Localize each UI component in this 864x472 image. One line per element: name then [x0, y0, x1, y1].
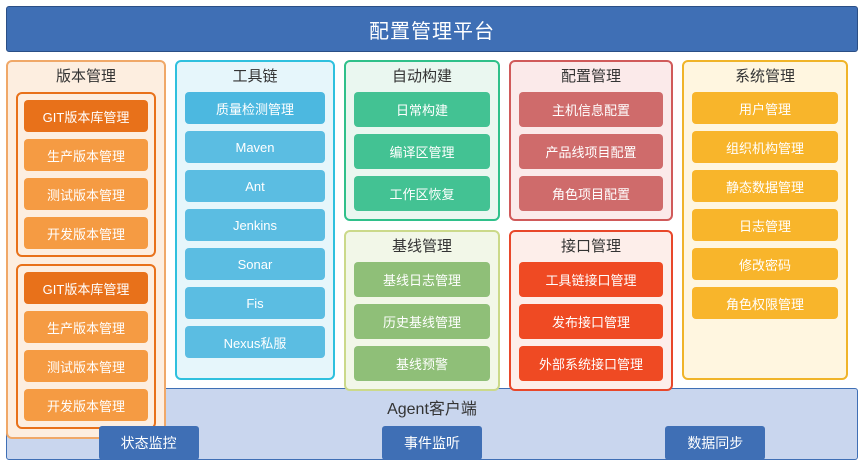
node-fis[interactable]: Fis [185, 287, 325, 319]
group-title: 版本管理 [16, 68, 156, 86]
group-system-management: 系统管理 用户管理 组织机构管理 静态数据管理 日志管理 修改密码 角色权限管理 [682, 60, 848, 380]
subgroup-list: GIT版本库管理 生产版本管理 测试版本管理 开发版本管理 GIT版本库管理 生… [16, 92, 156, 429]
group-baseline-management: 基线管理 基线日志管理 历史基线管理 基线预警 [344, 230, 500, 391]
page-title: 配置管理平台 [6, 6, 858, 52]
node-list: 用户管理 组织机构管理 静态数据管理 日志管理 修改密码 角色权限管理 [692, 92, 838, 370]
group-title: 接口管理 [519, 238, 663, 256]
node-nexus-private-repo[interactable]: Nexus私服 [185, 326, 325, 358]
node-product-line-project-config[interactable]: 产品线项目配置 [519, 134, 663, 169]
node-dev-version-management[interactable]: 开发版本管理 [24, 389, 148, 421]
agent-client-title: Agent客户端 [387, 395, 477, 419]
node-user-management[interactable]: 用户管理 [692, 92, 838, 124]
group-title: 基线管理 [354, 238, 490, 256]
node-test-version-management[interactable]: 测试版本管理 [24, 178, 148, 210]
group-config-management: 配置管理 主机信息配置 产品线项目配置 角色项目配置 [509, 60, 673, 221]
node-git-repo-management[interactable]: GIT版本库管理 [24, 272, 148, 304]
group-title: 配置管理 [519, 68, 663, 86]
node-git-repo-management[interactable]: GIT版本库管理 [24, 100, 148, 132]
node-static-data-management[interactable]: 静态数据管理 [692, 170, 838, 202]
node-host-info-config[interactable]: 主机信息配置 [519, 92, 663, 127]
node-role-project-config[interactable]: 角色项目配置 [519, 176, 663, 211]
node-external-system-interface-management[interactable]: 外部系统接口管理 [519, 346, 663, 381]
node-test-version-management[interactable]: 测试版本管理 [24, 350, 148, 382]
node-toolchain-interface-management[interactable]: 工具链接口管理 [519, 262, 663, 297]
diagram-root: 配置管理平台 版本管理 GIT版本库管理 生产版本管理 测试版本管理 开发版本管… [0, 0, 864, 472]
node-quality-inspection-management[interactable]: 质量检测管理 [185, 92, 325, 124]
subgroup-version-repo-1: GIT版本库管理 生产版本管理 测试版本管理 开发版本管理 [16, 92, 156, 257]
group-toolchain: 工具链 质量检测管理 Maven Ant Jenkins Sonar Fis N… [175, 60, 335, 380]
node-production-version-management[interactable]: 生产版本管理 [24, 311, 148, 343]
column-system-management: 系统管理 用户管理 组织机构管理 静态数据管理 日志管理 修改密码 角色权限管理 [682, 60, 848, 380]
node-dev-version-management[interactable]: 开发版本管理 [24, 217, 148, 249]
node-list: 工具链接口管理 发布接口管理 外部系统接口管理 [519, 262, 663, 381]
group-auto-build: 自动构建 日常构建 编译区管理 工作区恢复 [344, 60, 500, 221]
node-change-password[interactable]: 修改密码 [692, 248, 838, 280]
diagram-columns: 版本管理 GIT版本库管理 生产版本管理 测试版本管理 开发版本管理 GIT版本… [6, 60, 858, 380]
node-jenkins[interactable]: Jenkins [185, 209, 325, 241]
node-list: 日常构建 编译区管理 工作区恢复 [354, 92, 490, 211]
column-version-management: 版本管理 GIT版本库管理 生产版本管理 测试版本管理 开发版本管理 GIT版本… [6, 60, 166, 380]
node-event-listening[interactable]: 事件监听 [382, 426, 482, 460]
node-list: 质量检测管理 Maven Ant Jenkins Sonar Fis Nexus… [185, 92, 325, 370]
node-organization-management[interactable]: 组织机构管理 [692, 131, 838, 163]
node-ant[interactable]: Ant [185, 170, 325, 202]
column-auto-build: 自动构建 日常构建 编译区管理 工作区恢复 基线管理 基线日志管理 历史基线管理… [344, 60, 500, 380]
subgroup-version-repo-2: GIT版本库管理 生产版本管理 测试版本管理 开发版本管理 [16, 264, 156, 429]
node-release-interface-management[interactable]: 发布接口管理 [519, 304, 663, 339]
node-status-monitoring[interactable]: 状态监控 [99, 426, 199, 460]
node-maven[interactable]: Maven [185, 131, 325, 163]
column-toolchain: 工具链 质量检测管理 Maven Ant Jenkins Sonar Fis N… [175, 60, 335, 380]
node-workspace-recovery[interactable]: 工作区恢复 [354, 176, 490, 211]
node-sonar[interactable]: Sonar [185, 248, 325, 280]
group-title: 系统管理 [692, 68, 838, 86]
node-list: 主机信息配置 产品线项目配置 角色项目配置 [519, 92, 663, 211]
node-log-management[interactable]: 日志管理 [692, 209, 838, 241]
group-title: 工具链 [185, 68, 325, 86]
node-baseline-log-management[interactable]: 基线日志管理 [354, 262, 490, 297]
node-compile-area-management[interactable]: 编译区管理 [354, 134, 490, 169]
column-config-management: 配置管理 主机信息配置 产品线项目配置 角色项目配置 接口管理 工具链接口管理 … [509, 60, 673, 380]
group-title: 自动构建 [354, 68, 490, 86]
node-baseline-alert[interactable]: 基线预警 [354, 346, 490, 381]
group-version-management: 版本管理 GIT版本库管理 生产版本管理 测试版本管理 开发版本管理 GIT版本… [6, 60, 166, 439]
node-historical-baseline-management[interactable]: 历史基线管理 [354, 304, 490, 339]
node-data-sync[interactable]: 数据同步 [665, 426, 765, 460]
node-daily-build[interactable]: 日常构建 [354, 92, 490, 127]
node-role-permission-management[interactable]: 角色权限管理 [692, 287, 838, 319]
agent-client-nodes: 状态监控 事件监听 数据同步 [7, 426, 857, 460]
node-list: 基线日志管理 历史基线管理 基线预警 [354, 262, 490, 381]
node-production-version-management[interactable]: 生产版本管理 [24, 139, 148, 171]
group-interface-management: 接口管理 工具链接口管理 发布接口管理 外部系统接口管理 [509, 230, 673, 391]
